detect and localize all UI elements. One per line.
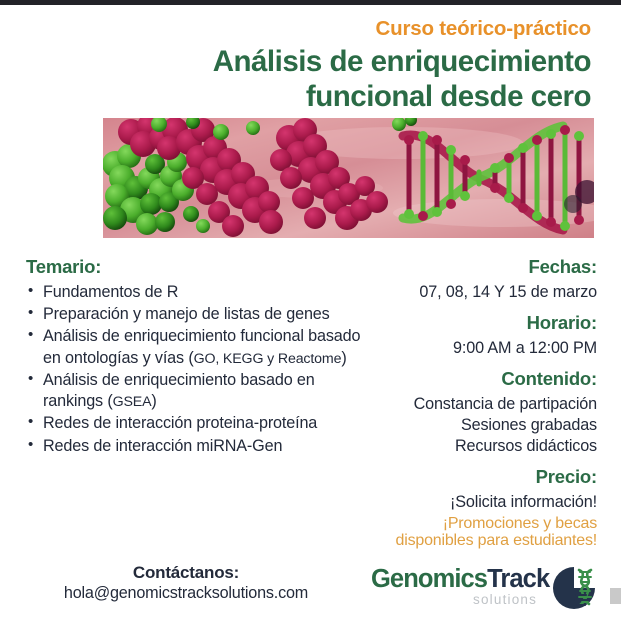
content-heading: Contenido: xyxy=(347,368,597,390)
logo-tagline: solutions xyxy=(473,592,537,607)
price-value: ¡Solicita información! xyxy=(347,492,597,513)
content-value: Sesiones grabadas xyxy=(347,415,597,436)
dna-illustration xyxy=(103,118,594,238)
list-item: Fundamentos de R xyxy=(26,282,366,303)
list-item: Redes de interacción miRNA-Gen xyxy=(26,436,366,457)
promo-line-2: disponibles para estudiantes! xyxy=(347,533,597,549)
schedule-heading: Horario: xyxy=(347,312,597,334)
syllabus-item-text: Redes de interacción miRNA-Gen xyxy=(43,437,282,455)
schedule-value: 9:00 AM a 12:00 PM xyxy=(347,338,597,359)
logo-word-genomics: Genomics xyxy=(371,565,487,593)
dna-circle-icon xyxy=(549,564,599,612)
scrollbar-artifact[interactable] xyxy=(608,588,621,604)
dates-value: 07, 08, 14 Y 15 de marzo xyxy=(347,282,597,303)
price-heading: Precio: xyxy=(347,466,597,488)
promo-line-1: ¡Promociones y becas xyxy=(347,516,597,532)
syllabus-heading: Temario: xyxy=(26,256,366,278)
syllabus-item-small: GSEA xyxy=(113,394,152,410)
title-line-2: funcional desde cero xyxy=(31,79,591,114)
list-item: Análisis de enriquecimiento basado en ra… xyxy=(26,370,366,412)
syllabus-item-text-after: ) xyxy=(151,392,156,410)
syllabus-list: Fundamentos de R Preparación y manejo de… xyxy=(26,282,366,457)
content-value: Recursos didácticos xyxy=(347,436,597,457)
top-border-strip xyxy=(0,0,621,5)
dates-heading: Fechas: xyxy=(347,256,597,278)
syllabus-item-text: Preparación y manejo de listas de genes xyxy=(43,305,330,323)
syllabus-item-text: Análisis de enriquecimiento basado en ra… xyxy=(43,371,315,410)
syllabus-item-text: Fundamentos de R xyxy=(43,283,178,301)
contact-block: Contáctanos: hola@genomicstracksolutions… xyxy=(26,563,346,603)
brand-logo[interactable]: GenomicsTrack solutions xyxy=(371,565,603,615)
content-value: Constancia de partipación xyxy=(347,394,597,415)
promo-banner: ¡Promociones y becas disponibles para es… xyxy=(347,516,597,549)
syllabus-section: Temario: Fundamentos de R Preparación y … xyxy=(26,256,366,458)
list-item: Preparación y manejo de listas de genes xyxy=(26,304,366,325)
details-section: Fechas: 07, 08, 14 Y 15 de marzo Horario… xyxy=(347,256,597,549)
syllabus-item-small: GO, KEGG y Reactome xyxy=(194,351,342,367)
course-kicker: Curso teórico-práctico xyxy=(376,17,591,41)
list-item: Análisis de enriquecimiento funcional ba… xyxy=(26,326,366,368)
contact-email[interactable]: hola@genomicstracksolutions.com xyxy=(26,584,346,603)
molecular-hero-image xyxy=(103,118,594,238)
syllabus-item-text: Redes de interacción proteina-proteína xyxy=(43,414,317,432)
poster-canvas: Curso teórico-práctico Análisis de enriq… xyxy=(0,0,621,620)
logo-wordmark: GenomicsTrack xyxy=(371,565,549,594)
contact-heading: Contáctanos: xyxy=(26,563,346,583)
page-title: Análisis de enriquecimiento funcional de… xyxy=(31,44,591,114)
syllabus-item-text-after: ) xyxy=(341,349,346,367)
title-line-1: Análisis de enriquecimiento xyxy=(213,45,591,78)
logo-word-track: Track xyxy=(487,565,549,593)
list-item: Redes de interacción proteina-proteína xyxy=(26,413,366,434)
